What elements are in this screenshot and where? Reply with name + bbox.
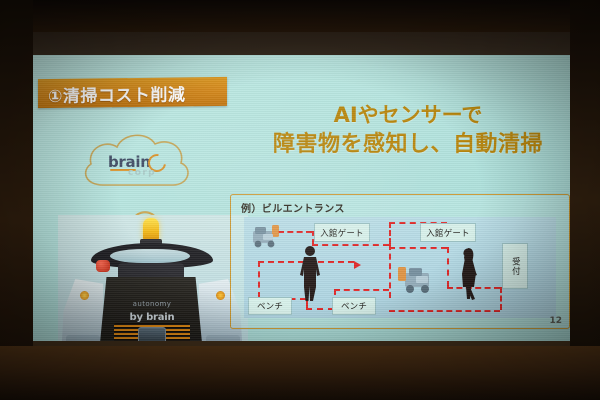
floorplan-map: 入館ゲート 入館ゲート ベンチ ベンチ 受付 [244, 217, 556, 318]
robot-body-logo: autonomy by brain [110, 299, 194, 325]
robot-wheel-right [206, 335, 240, 341]
brain-wordmark: brain corp [108, 153, 178, 177]
headline-line-1: AIやセンサーで [248, 102, 568, 130]
headline-line-2: 障害物を感知し、自動清掃 [248, 130, 568, 159]
wall-left [0, 0, 33, 400]
robot-logo-line-1: autonomy [133, 300, 172, 308]
brand-sub: corp [128, 168, 156, 178]
banner-label: ①清掃コスト削減 [48, 80, 185, 107]
slide-page-number: 12 [549, 316, 562, 326]
label-reception: 受付 [502, 243, 528, 289]
room-scene: ①清掃コスト削減 AIやセンサーで 障害物を感知し、自動清掃 brain cor… [0, 0, 600, 400]
route-segment [306, 308, 334, 310]
projection-screen: ①清掃コスト削減 AIやセンサーで 障害物を感知し、自動清掃 brain cor… [33, 32, 570, 346]
robot-lamp-right [216, 291, 225, 300]
robot-lamp-left [80, 291, 89, 300]
man-silhouette-icon [296, 245, 324, 301]
cloud-graphic: brain corp [75, 127, 200, 199]
route-segment [447, 247, 449, 287]
route-segment [389, 222, 391, 244]
label-entry-gate-1: 入館ゲート [314, 223, 370, 242]
mini-robot-right-icon [396, 263, 438, 295]
diagram-caption: 例）ビルエントランス [241, 200, 345, 215]
wall-top [0, 0, 600, 33]
beacon-light-icon [143, 218, 159, 241]
robot-sensor-camera [138, 327, 166, 341]
woman-silhouette-icon [456, 247, 482, 301]
route-segment [258, 261, 260, 298]
example-diagram-panel: 例）ビルエントランス [230, 194, 570, 329]
slide-section-banner: ①清掃コスト削減 [38, 77, 227, 108]
screen-bottom-band [33, 341, 570, 346]
wall-right [570, 0, 600, 400]
cleaning-robot-photo: autonomy by brain BrainOS [58, 215, 248, 341]
route-segment [389, 244, 391, 298]
screen-top-band [33, 32, 570, 55]
wall-bottom [0, 346, 600, 400]
robot-logo-line-2: by brain [130, 312, 175, 323]
label-entry-gate-2: 入館ゲート [420, 223, 476, 242]
emergency-stop-button [96, 260, 110, 272]
route-segment [334, 289, 389, 291]
mini-robot-left-icon [250, 222, 286, 248]
label-bench-1: ベンチ [248, 297, 292, 315]
route-segment [389, 247, 447, 249]
robot-wheel-left [66, 335, 100, 341]
label-bench-2: ベンチ [332, 297, 376, 315]
slide-headline: AIやセンサーで 障害物を感知し、自動清掃 [248, 102, 568, 159]
presentation-slide: ①清掃コスト削減 AIやセンサーで 障害物を感知し、自動清掃 brain cor… [33, 55, 570, 341]
route-segment [389, 310, 500, 312]
route-direction-arrow [354, 261, 361, 269]
robot-handlebar-inner [110, 249, 190, 263]
route-segment [500, 287, 502, 310]
